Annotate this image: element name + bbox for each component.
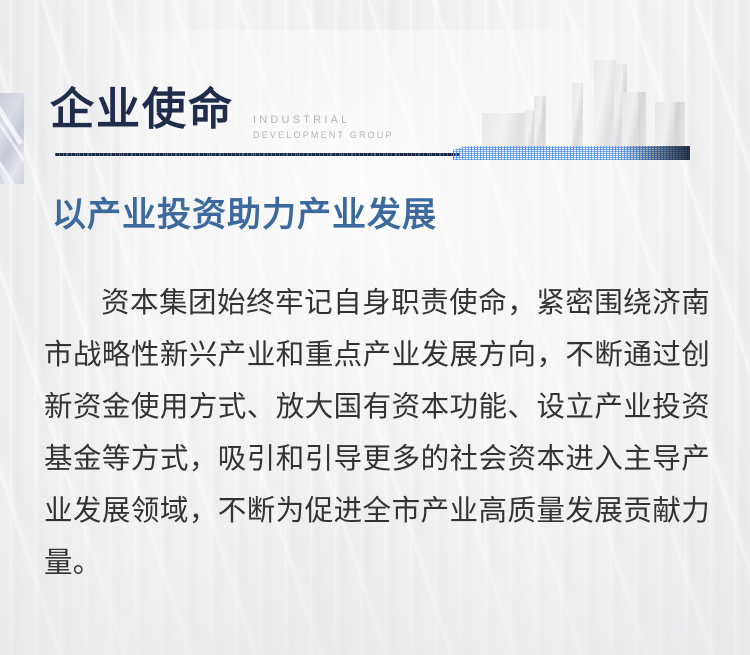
english-subtitle-line-2: DEVELOPMENT GROUP: [253, 129, 394, 143]
english-subtitle-line-1: INDUSTRIAL: [253, 112, 394, 129]
divider-band-fade: [620, 146, 690, 160]
building-3: [572, 83, 583, 150]
divider-thin-line: [55, 153, 460, 156]
divider-pixel-dots: [55, 153, 460, 156]
section-heading: 以产业投资助力产业发展: [52, 198, 437, 232]
city-skyline-decoration: [455, 40, 700, 150]
building-2: [534, 96, 546, 150]
body-paragraph: 资本集团始终牢记自身职责使命，紧密围绕济南市战略性新兴产业和重点产业发展方向，不…: [44, 277, 710, 589]
page-title: 企业使命: [50, 88, 234, 132]
left-gradient-square-decoration: [0, 93, 24, 184]
english-subtitle: INDUSTRIAL DEVELOPMENT GROUP: [253, 112, 394, 143]
divider-digital-band: [453, 146, 690, 160]
building-5: [622, 92, 646, 150]
mission-page: 企业使命 INDUSTRIAL DEVELOPMENT GROUP 以产业投资助…: [0, 0, 750, 655]
building-6: [655, 102, 685, 150]
swoosh-line-1: [0, 93, 23, 145]
building-4: [594, 60, 616, 150]
body-text: 资本集团始终牢记自身职责使命，紧密围绕济南市战略性新兴产业和重点产业发展方向，不…: [44, 277, 710, 589]
header-divider: [55, 146, 690, 160]
